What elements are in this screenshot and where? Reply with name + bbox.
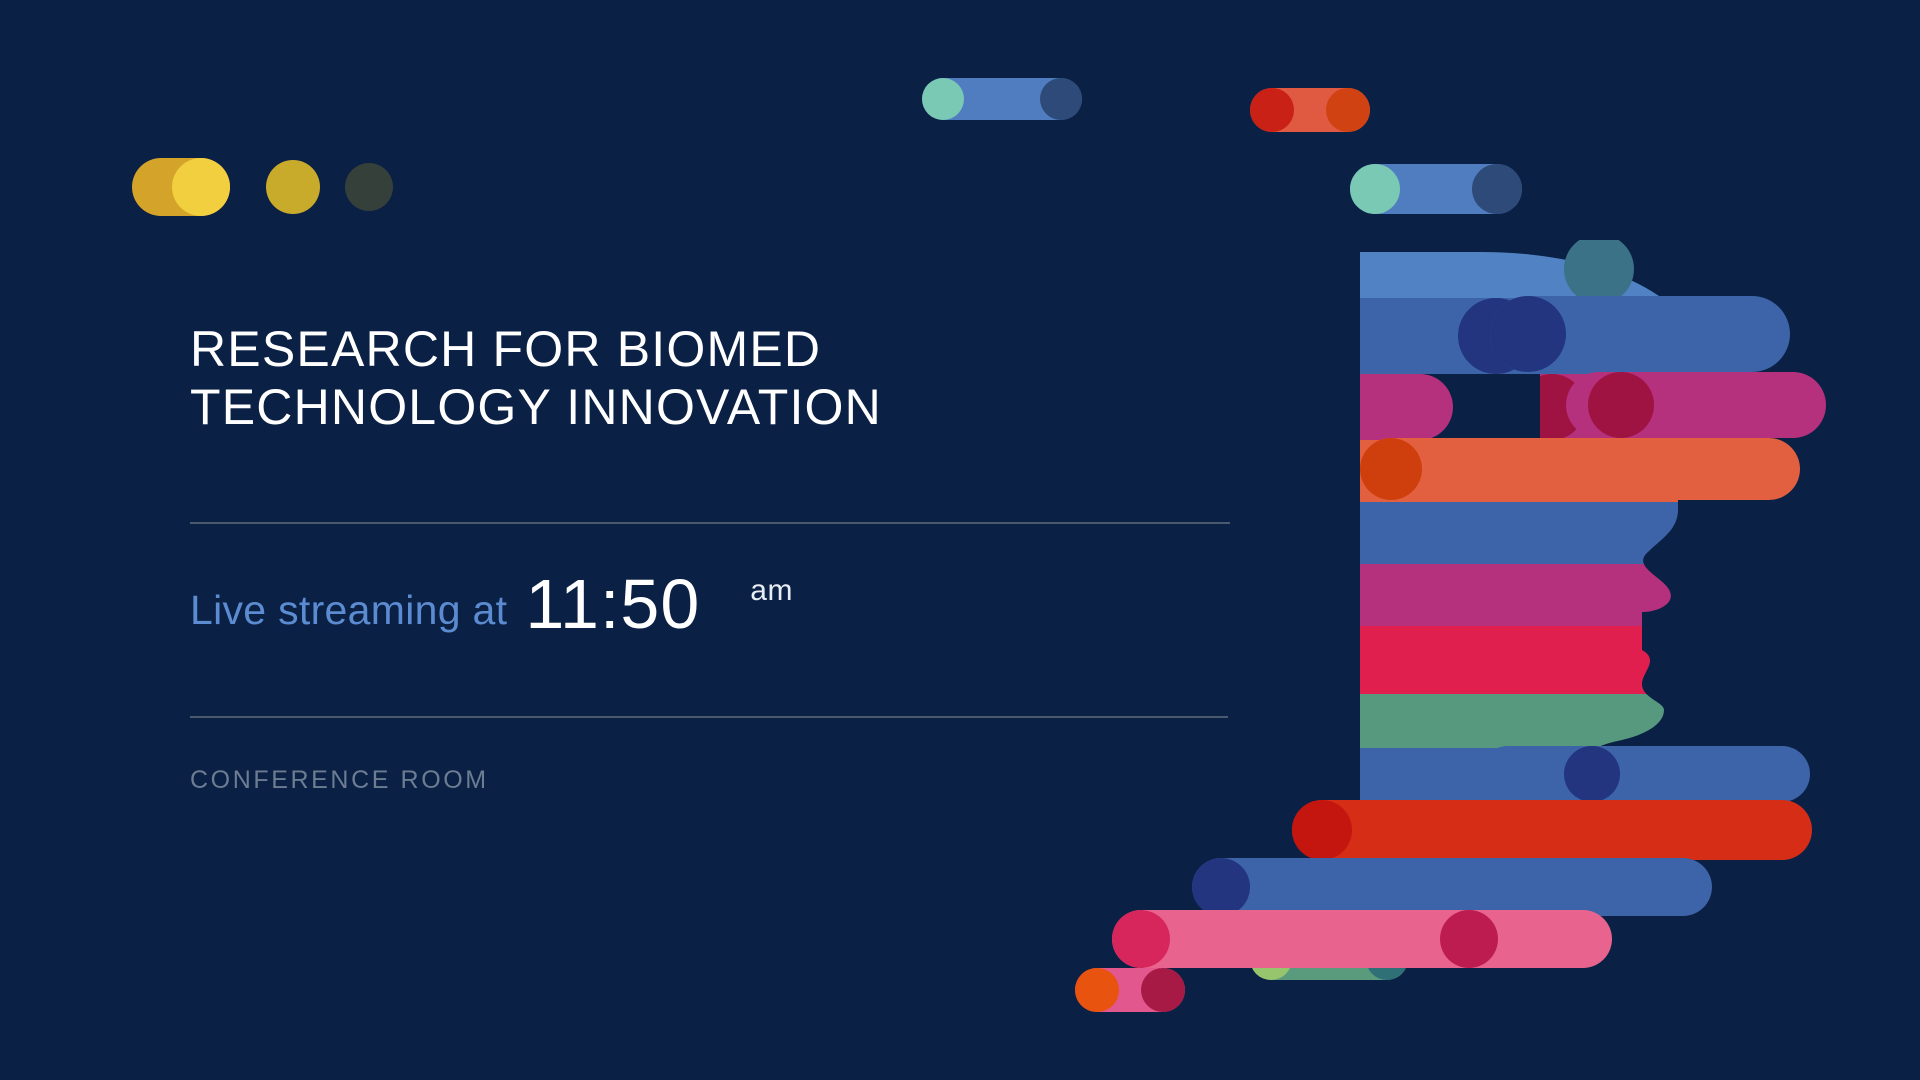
pill-top-red xyxy=(1250,88,1370,132)
gold-circle-bright xyxy=(172,158,230,216)
room-label: CONFERENCE ROOM xyxy=(190,766,1240,795)
pill-right-cap-navy xyxy=(1040,78,1082,120)
band-nose-bridge xyxy=(1360,502,1920,564)
circle-neck-lower-left-cap-a xyxy=(1112,910,1170,968)
pill-right-cap-crimson xyxy=(1141,968,1185,1012)
bar-jaw-left xyxy=(1292,800,1812,860)
gold-dot-second xyxy=(266,160,320,214)
circle-neck-left-cap xyxy=(1192,858,1250,916)
band-nose xyxy=(1360,564,1920,626)
circle-eye-left-cap xyxy=(1588,372,1654,438)
streaming-time-row: Live streaming at 11:50 am xyxy=(190,524,1240,644)
slide-canvas: RESEARCH FOR BIOMED TECHNOLOGY INNOVATIO… xyxy=(0,0,1920,1080)
pill-right-cap-navy xyxy=(1472,164,1522,214)
page-title: RESEARCH FOR BIOMED TECHNOLOGY INNOVATIO… xyxy=(190,320,1240,436)
circle-cheek-left-cap xyxy=(1360,438,1422,500)
pill-left-cap-orange xyxy=(1075,968,1119,1012)
bar-chin-left xyxy=(1480,746,1810,802)
circle-jaw-left-cap xyxy=(1292,800,1352,860)
band-lips xyxy=(1360,694,1920,750)
pill-right-cap-orange xyxy=(1326,88,1370,132)
divider-bottom xyxy=(190,716,1228,718)
pill-left-cap-mint xyxy=(922,78,964,120)
pill-top-blue xyxy=(922,78,1082,120)
band-forehead xyxy=(1360,240,1920,298)
slide-text-block: RESEARCH FOR BIOMED TECHNOLOGY INNOVATIO… xyxy=(190,320,1240,795)
streaming-time: 11:50 xyxy=(525,564,700,644)
circle-neck-lower-left-cap-b xyxy=(1440,910,1498,968)
circle-chin-left-cap xyxy=(1564,746,1620,802)
bar-neck-left xyxy=(1192,858,1712,916)
pill-left-cap-red xyxy=(1250,88,1294,132)
streaming-label: Live streaming at xyxy=(190,587,507,634)
streaming-meridiem: am xyxy=(750,574,793,608)
band-nose-tip xyxy=(1360,626,1920,694)
bar-neck-lower-left xyxy=(1112,910,1612,968)
bar-cheek-left xyxy=(1360,438,1800,500)
pill-left-cap-mint xyxy=(1350,164,1400,214)
pill-bottom-pink xyxy=(1075,968,1185,1012)
olive-dot-third xyxy=(345,163,393,211)
circle-brow-left-cap xyxy=(1490,296,1566,372)
pill-second-blue xyxy=(1350,164,1522,214)
gold-dot-group xyxy=(132,158,412,218)
